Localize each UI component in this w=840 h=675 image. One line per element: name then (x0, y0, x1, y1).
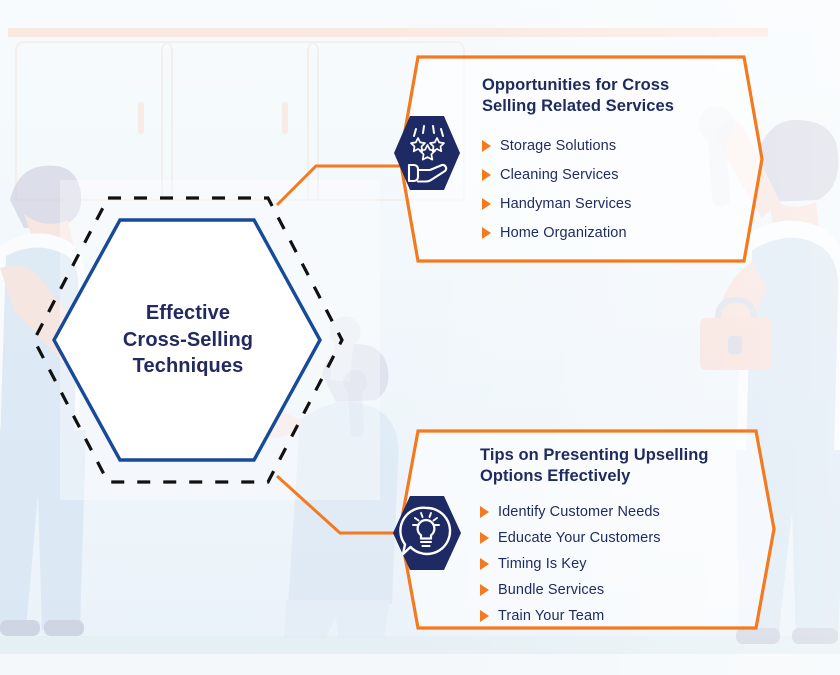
card-list-bottom: Identify Customer Needs Educate Your Cus… (480, 499, 770, 629)
triangle-bullet-icon (480, 532, 489, 544)
infographic-canvas: Effective Cross-Selling Techniques Oppor… (0, 0, 840, 675)
list-item[interactable]: Cleaning Services (482, 160, 752, 189)
center-hexagon: Effective Cross-Selling Techniques (28, 190, 348, 490)
card-heading-top: Opportunities for Cross Selling Related … (482, 75, 748, 117)
solid-hexagon-core (54, 220, 320, 460)
triangle-bullet-icon (482, 140, 491, 152)
card-heading-bottom-line-1: Tips on Presenting Upselling (480, 445, 762, 466)
badge-hand-with-stars[interactable] (392, 114, 462, 192)
list-item-label: Cleaning Services (500, 167, 619, 183)
triangle-bullet-icon (480, 558, 489, 570)
list-item[interactable]: Home Organization (482, 218, 752, 247)
list-item-label: Handyman Services (500, 196, 631, 212)
hand-with-stars-icon (392, 114, 462, 192)
lightbulb-speech-bubble-icon (391, 494, 463, 572)
list-item-label: Timing Is Key (498, 556, 587, 572)
triangle-bullet-icon (482, 198, 491, 210)
badge-lightbulb-speech[interactable] (391, 494, 463, 572)
list-item-label: Identify Customer Needs (498, 504, 660, 520)
list-item-label: Bundle Services (498, 582, 604, 598)
list-item-label: Home Organization (500, 225, 627, 241)
list-item[interactable]: Identify Customer Needs (480, 499, 770, 525)
list-item[interactable]: Bundle Services (480, 577, 770, 603)
center-hexagon-svg (28, 190, 348, 490)
list-item-label: Storage Solutions (500, 138, 616, 154)
list-item-label: Train Your Team (498, 608, 604, 624)
triangle-bullet-icon (480, 584, 489, 596)
list-item[interactable]: Handyman Services (482, 189, 752, 218)
card-list-top: Storage Solutions Cleaning Services Hand… (482, 131, 752, 247)
card-heading-bottom-line-2: Options Effectively (480, 466, 762, 487)
card-heading-top-line-1: Opportunities for Cross (482, 75, 748, 96)
triangle-bullet-icon (480, 506, 489, 518)
card-heading-top-line-2: Selling Related Services (482, 96, 748, 117)
list-item[interactable]: Timing Is Key (480, 551, 770, 577)
list-item[interactable]: Educate Your Customers (480, 525, 770, 551)
list-item-label: Educate Your Customers (498, 530, 661, 546)
card-heading-bottom: Tips on Presenting Upselling Options Eff… (480, 445, 762, 487)
list-item[interactable]: Train Your Team (480, 603, 770, 629)
triangle-bullet-icon (482, 227, 491, 239)
list-item[interactable]: Storage Solutions (482, 131, 752, 160)
triangle-bullet-icon (480, 610, 489, 622)
triangle-bullet-icon (482, 169, 491, 181)
